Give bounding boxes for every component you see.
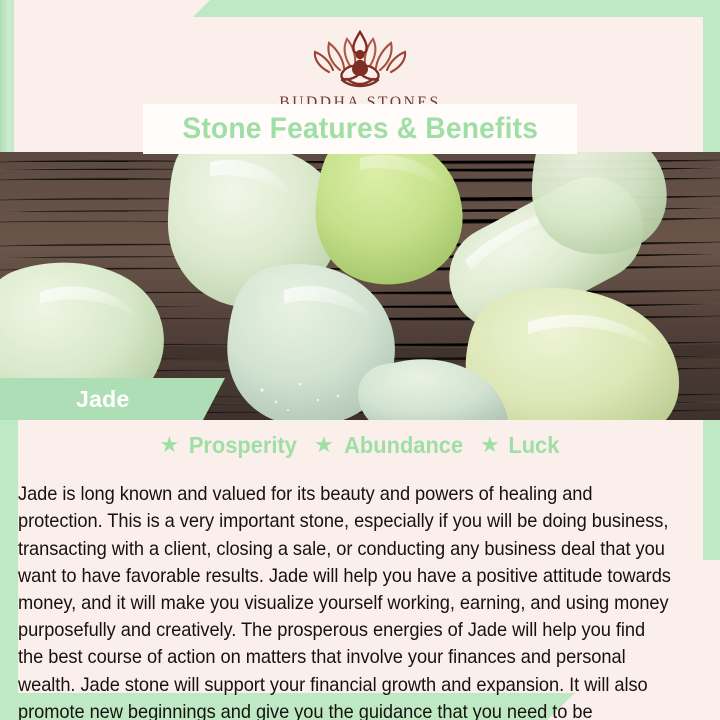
stone-name-band: Jade: [0, 378, 225, 420]
attribute-label: Luck: [508, 432, 559, 459]
attribute-label: Abundance: [344, 432, 463, 459]
star-icon: ★: [314, 434, 334, 456]
star-icon: ★: [480, 434, 500, 456]
stone-name-label: Jade: [76, 386, 130, 413]
stone-info-poster: BUDDHA STONES Stone Features & Benefits: [0, 0, 720, 720]
attribute-abundance: ★ Abundance: [314, 432, 466, 459]
attribute-label: Prosperity: [189, 432, 297, 459]
page-title: Stone Features & Benefits: [182, 112, 538, 146]
attributes-row: ★ Prosperity ★ Abundance ★ Luck: [0, 429, 720, 461]
stone-description: Jade is long known and valued for its be…: [18, 481, 673, 720]
lotus-meditation-icon: [302, 28, 418, 90]
star-icon: ★: [160, 434, 180, 456]
title-banner: Stone Features & Benefits: [143, 104, 577, 154]
attribute-prosperity: ★ Prosperity: [160, 432, 301, 459]
brand-header: BUDDHA STONES: [0, 0, 720, 112]
attribute-luck: ★ Luck: [480, 432, 560, 459]
